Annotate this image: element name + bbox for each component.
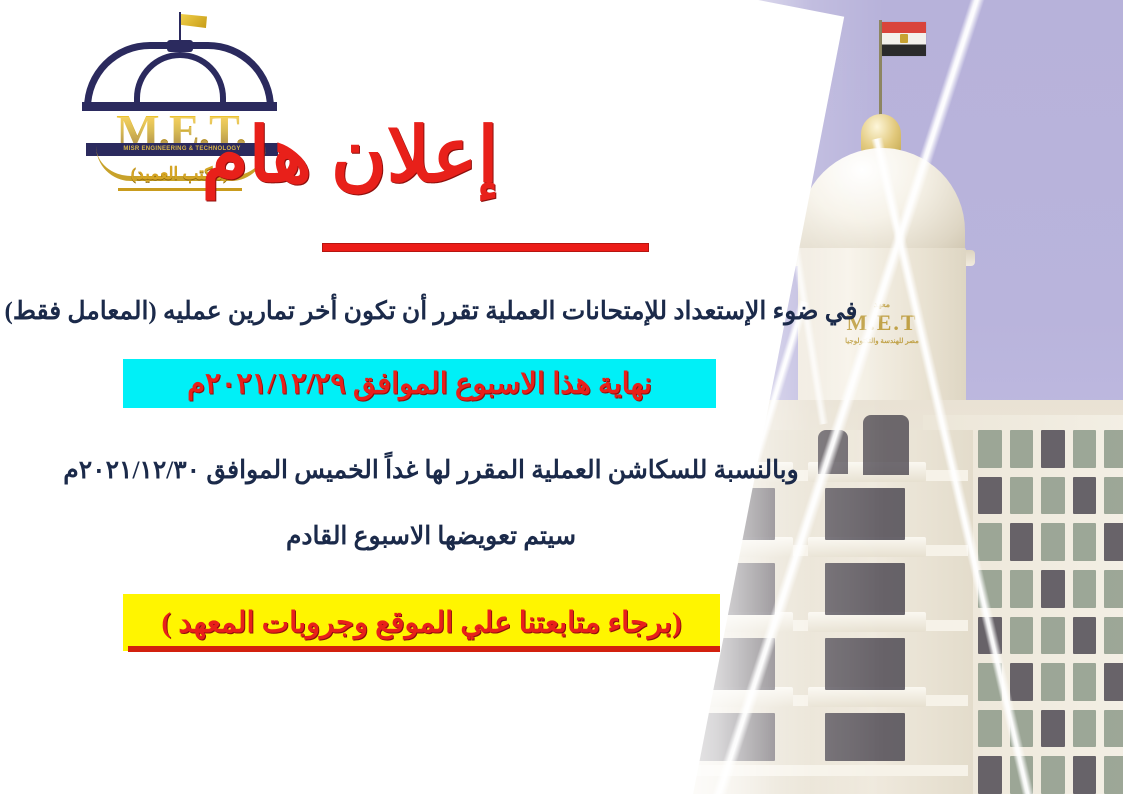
window bbox=[978, 570, 1002, 608]
window bbox=[978, 430, 1002, 468]
window bbox=[1010, 663, 1034, 701]
window bbox=[1010, 756, 1034, 794]
window bbox=[1010, 477, 1034, 515]
window-grid-right bbox=[978, 430, 1123, 794]
window bbox=[978, 523, 1002, 561]
window bbox=[1010, 523, 1034, 561]
window bbox=[1073, 756, 1097, 794]
page-title-underline bbox=[322, 243, 649, 252]
window bbox=[978, 663, 1002, 701]
window bbox=[1041, 430, 1065, 468]
window bbox=[1010, 710, 1034, 748]
window bbox=[978, 756, 1002, 794]
window bbox=[1041, 617, 1065, 655]
announcement-line-5-underline bbox=[128, 646, 720, 652]
window bbox=[1010, 617, 1034, 655]
window bbox=[1104, 477, 1123, 515]
page-title: إعلان هام bbox=[0, 118, 700, 194]
window bbox=[1104, 710, 1123, 748]
flag-emblem-icon bbox=[900, 34, 908, 43]
window bbox=[1041, 710, 1065, 748]
announcement-line-5-highlight: (برجاء متابعتنا علي الموقع وجروبات المعه… bbox=[123, 594, 720, 651]
window bbox=[978, 477, 1002, 515]
window bbox=[1104, 523, 1123, 561]
window bbox=[1041, 523, 1065, 561]
window bbox=[1104, 570, 1123, 608]
window bbox=[1073, 617, 1097, 655]
window bbox=[1041, 570, 1065, 608]
window bbox=[1010, 570, 1034, 608]
window bbox=[978, 617, 1002, 655]
window bbox=[1073, 710, 1097, 748]
announcement-line-1: في ضوء الإستعداد للإمتحانات العملية تقرر… bbox=[0, 296, 862, 326]
window bbox=[1073, 523, 1097, 561]
announcement-poster: معهد M.E.T مصر للهندسة والتكنولوجيا bbox=[0, 0, 1123, 794]
window bbox=[1073, 477, 1097, 515]
window bbox=[1104, 430, 1123, 468]
window bbox=[1104, 617, 1123, 655]
window bbox=[978, 710, 1002, 748]
announcement-line-3: وبالنسبة للسكاشن العملية المقرر لها غداً… bbox=[0, 455, 862, 485]
window bbox=[1041, 663, 1065, 701]
window bbox=[1073, 570, 1097, 608]
window bbox=[1041, 756, 1065, 794]
window bbox=[1073, 663, 1097, 701]
window bbox=[1073, 430, 1097, 468]
window bbox=[1041, 477, 1065, 515]
window bbox=[1104, 663, 1123, 701]
announcement-line-4: سيتم تعويضها الاسبوع القادم bbox=[0, 521, 862, 551]
window bbox=[1010, 430, 1034, 468]
announcement-content: إعلان هام في ضوء الإستعداد للإمتحانات ال… bbox=[0, 0, 890, 794]
window bbox=[1104, 756, 1123, 794]
announcement-line-2-highlight: نهاية هذا الاسبوع الموافق ٢٠٢١/١٢/٢٩م bbox=[123, 359, 716, 408]
